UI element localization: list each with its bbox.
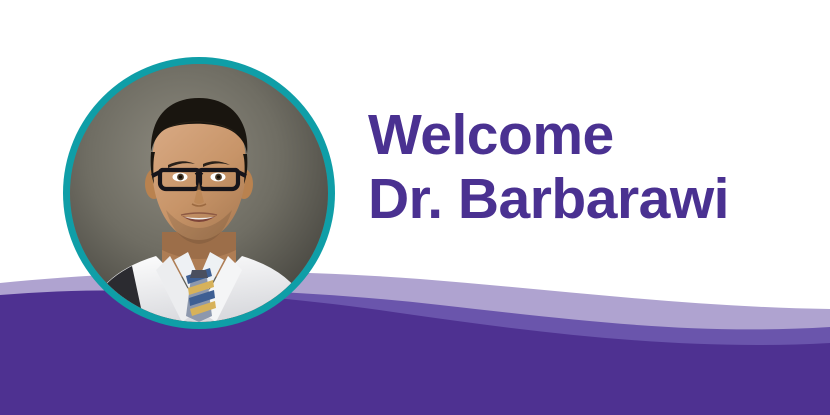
portrait: [63, 57, 335, 329]
portrait-photo: [70, 64, 328, 322]
headline-line-2: Dr. Barbarawi: [368, 168, 729, 232]
page-title: Welcome Dr. Barbarawi: [368, 104, 729, 232]
welcome-banner: Welcome Dr. Barbarawi: [0, 0, 830, 415]
headline-line-1: Welcome: [368, 104, 729, 168]
